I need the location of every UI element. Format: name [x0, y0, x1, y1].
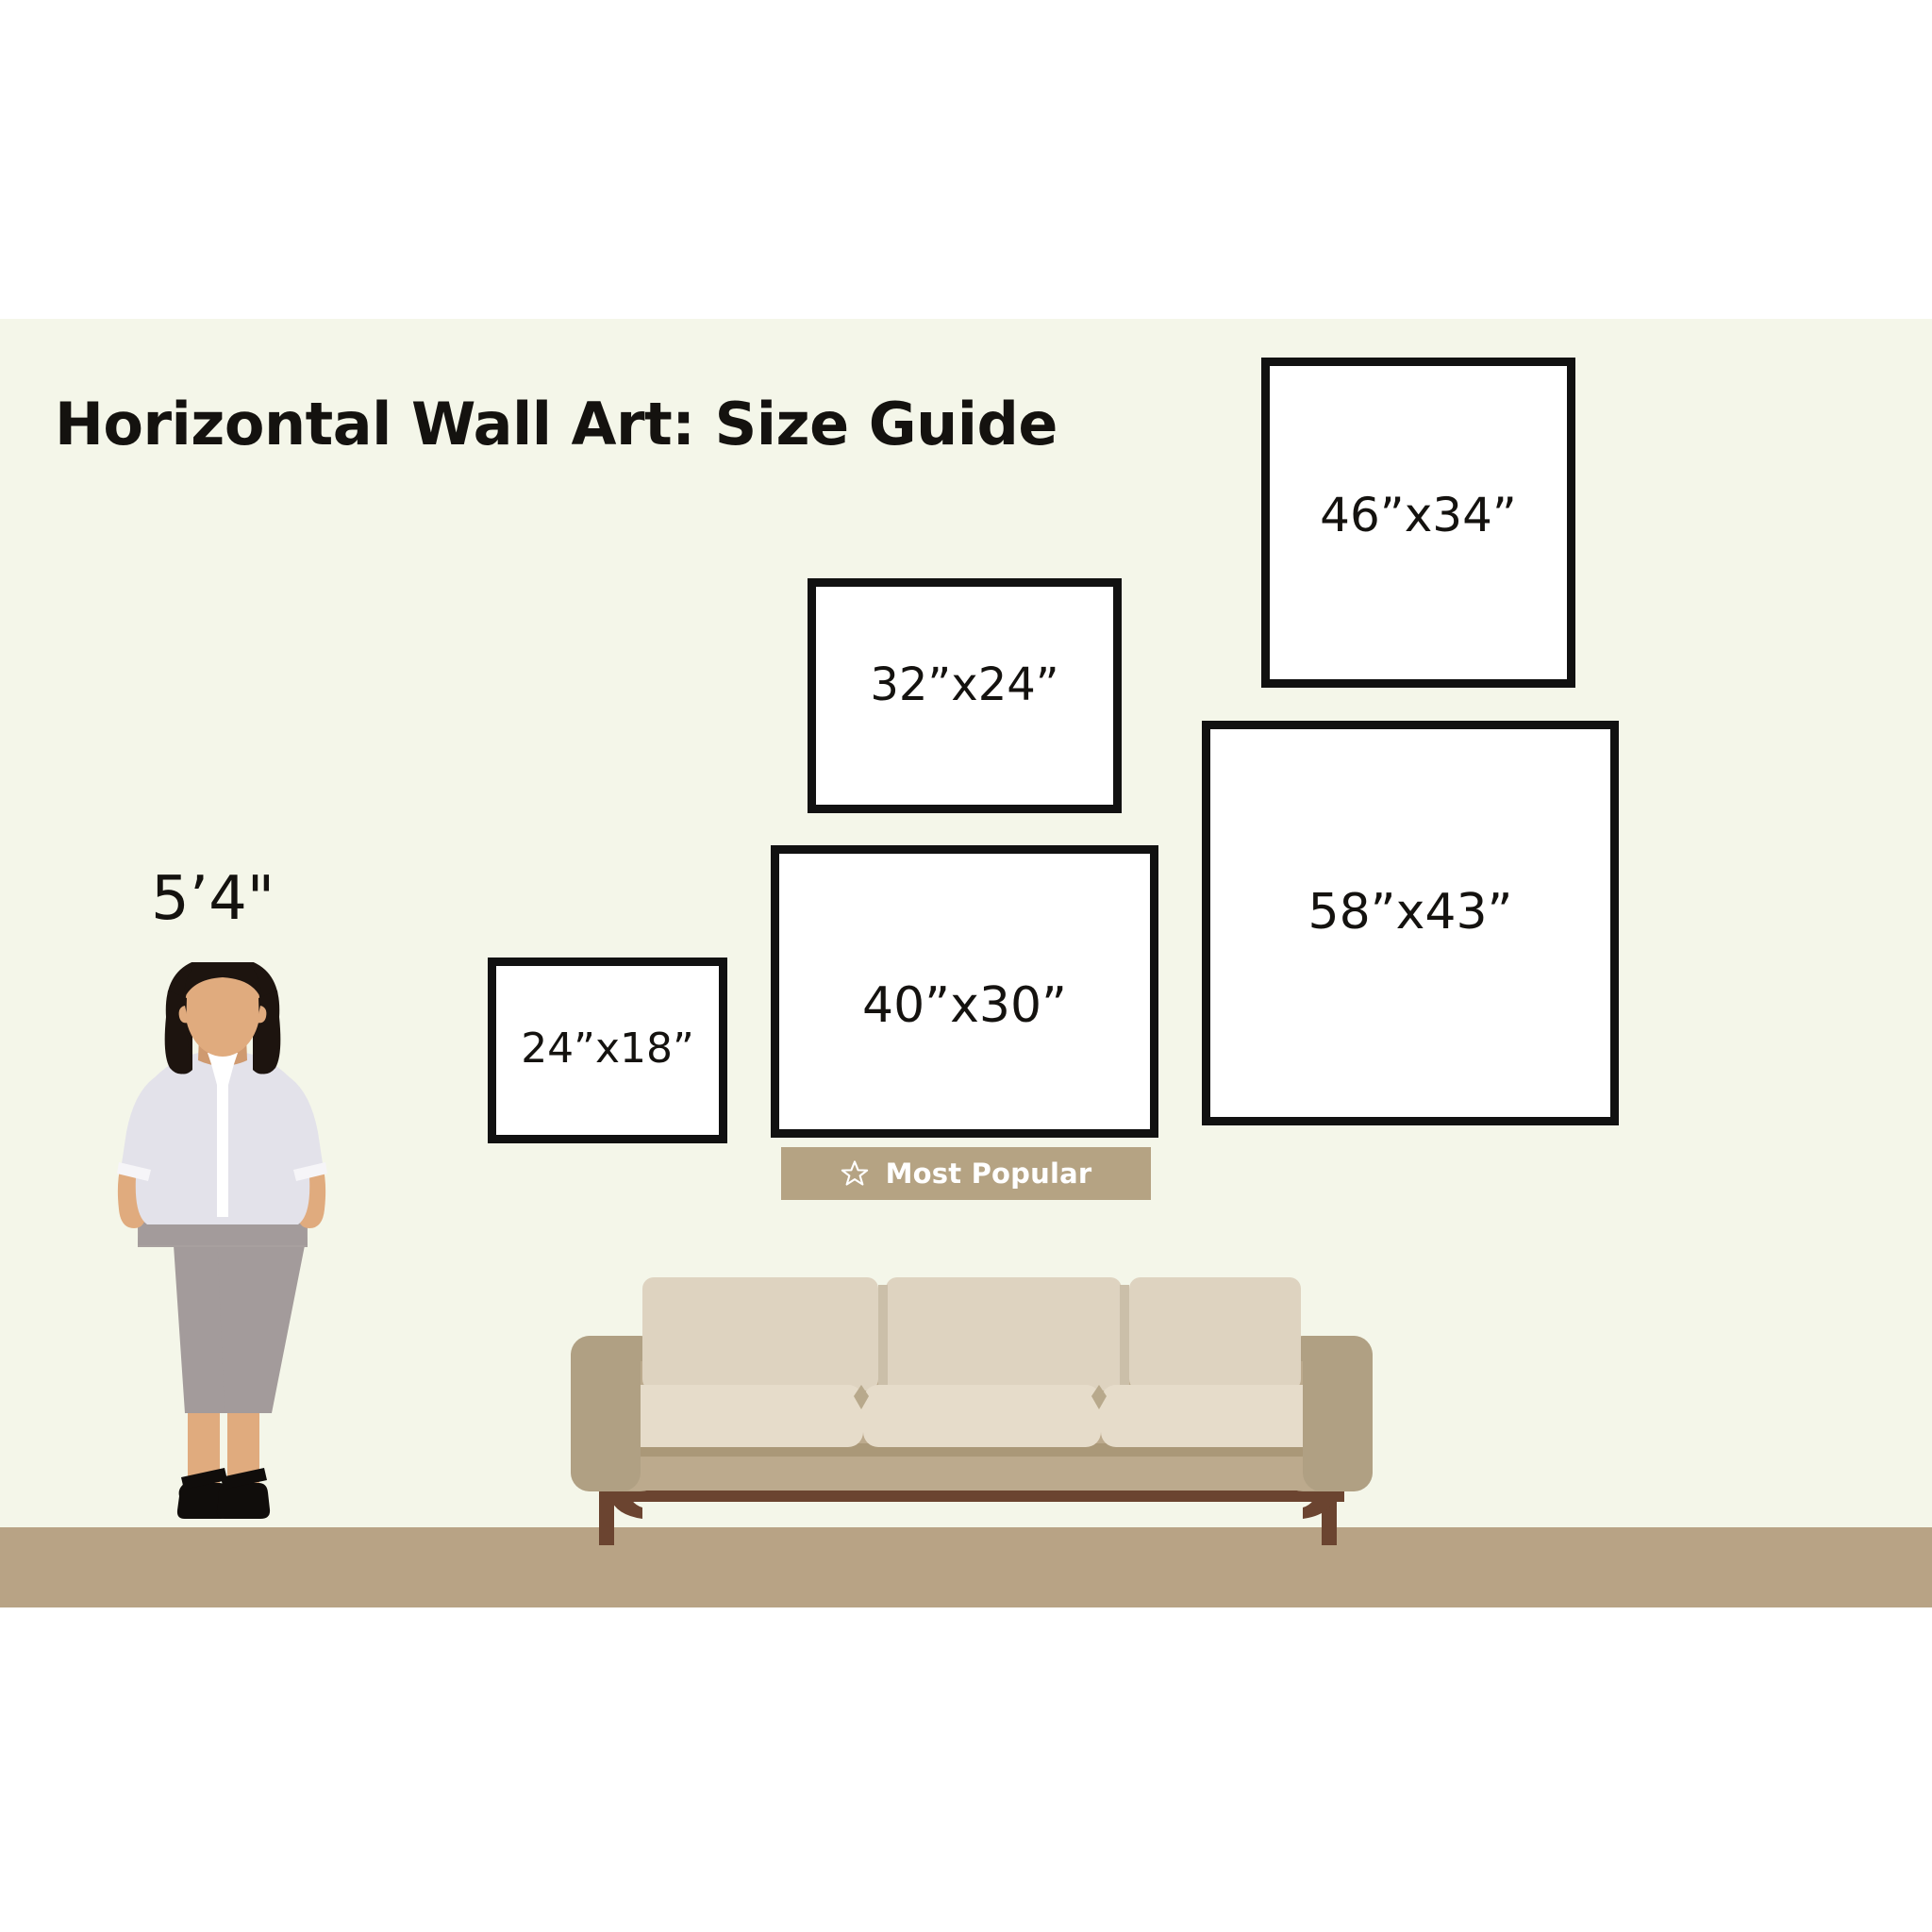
- height-reference-label: 5’4": [151, 864, 275, 934]
- star-outline-icon: [841, 1159, 869, 1188]
- art-frame-label: 46”x34”: [1320, 491, 1517, 679]
- art-frame-label: 58”x43”: [1308, 888, 1513, 1117]
- art-frame-label: 32”x24”: [870, 662, 1058, 805]
- standing-woman-figure: [113, 962, 330, 1528]
- most-popular-label: Most Popular: [886, 1158, 1092, 1190]
- art-frame-32x24[interactable]: 32”x24”: [808, 578, 1122, 813]
- art-frame-24x18[interactable]: 24”x18”: [488, 958, 727, 1143]
- art-frame-58x43[interactable]: 58”x43”: [1202, 721, 1619, 1125]
- page-title: Horizontal Wall Art: Size Guide: [55, 390, 1058, 458]
- wall-scene: Horizontal Wall Art: Size Guide 5’4": [0, 319, 1932, 1607]
- infographic-canvas: Horizontal Wall Art: Size Guide 5’4": [0, 0, 1932, 1932]
- art-frame-46x34[interactable]: 46”x34”: [1261, 358, 1575, 688]
- art-frame-label: 40”x30”: [862, 981, 1067, 1129]
- art-frame-40x30[interactable]: 40”x30”: [771, 845, 1158, 1138]
- most-popular-badge[interactable]: Most Popular: [781, 1147, 1151, 1200]
- sofa-illustration: [561, 1272, 1382, 1555]
- art-frame-label: 24”x18”: [521, 1028, 694, 1135]
